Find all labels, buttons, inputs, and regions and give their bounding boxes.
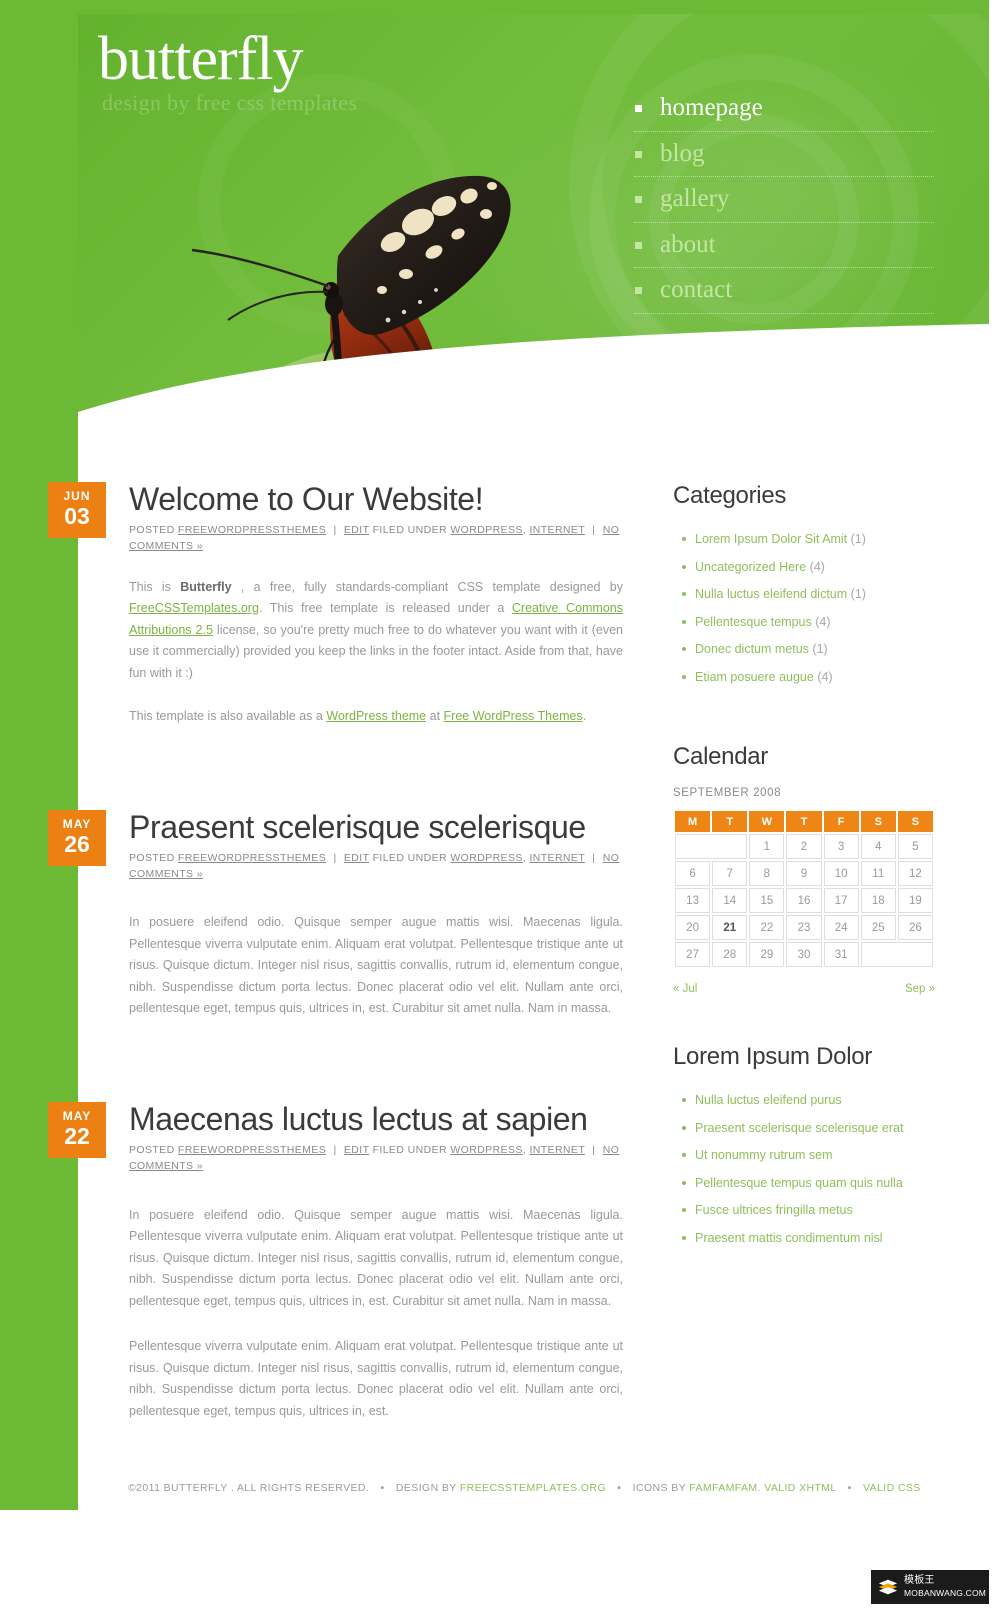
calendar-day-cell[interactable]: 17	[824, 888, 859, 913]
nav-item-gallery[interactable]: gallery	[634, 177, 934, 223]
post-meta-edit-link[interactable]: EDIT	[344, 524, 369, 536]
category-link[interactable]: Donec dictum metus	[695, 642, 809, 656]
calendar-day-cell[interactable]: 19	[898, 888, 933, 913]
post-meta-author-link[interactable]: FREEWORDPRESSTHEMES	[178, 524, 326, 536]
calendar-day-cell[interactable]: 11	[861, 861, 896, 886]
post-emphasis: Butterfly	[180, 580, 231, 594]
calendar-weekday: S	[861, 811, 896, 832]
wordpress-theme-link[interactable]: WordPress theme	[326, 709, 426, 723]
calendar-prev-month-link[interactable]: « Jul	[673, 983, 697, 995]
calendar-weekday: T	[786, 811, 821, 832]
calendar-table: M T W T F S S 1 2	[673, 809, 935, 969]
list-item[interactable]: Ut nonummy rutrum sem	[695, 1142, 973, 1170]
nav-item-homepage[interactable]: homepage	[634, 86, 934, 132]
lorem-link[interactable]: Praesent scelerisque scelerisque erat	[695, 1121, 903, 1135]
category-count: (1)	[851, 587, 866, 601]
post-meta-filed-label: FILED	[373, 1144, 405, 1156]
post-date-day: 26	[48, 831, 106, 856]
calendar-day-cell[interactable]: 22	[749, 915, 784, 940]
calendar-caption: SEPTEMBER 2008	[673, 787, 973, 799]
footer-separator: •	[373, 1482, 393, 1494]
categories-list: Lorem Ipsum Dolor Sit Amit (1) Uncategor…	[673, 526, 973, 691]
calendar-day-cell[interactable]: 7	[712, 861, 747, 886]
post-date-badge: MAY 22	[48, 1102, 106, 1158]
calendar-navigation: « Jul Sep »	[673, 983, 935, 995]
calendar-day-cell[interactable]: 31	[824, 942, 859, 967]
post-meta-posted-label: POSTED	[129, 524, 175, 536]
post-meta-under-label: UNDER	[408, 852, 447, 864]
calendar-day-cell-today[interactable]: 21	[712, 915, 747, 940]
header-curve-divider	[78, 264, 989, 444]
frame-right-bar	[989, 0, 1007, 1510]
post-date-month: JUN	[48, 482, 106, 503]
post-date-badge: JUN 03	[48, 482, 106, 538]
calendar-weekday: F	[824, 811, 859, 832]
calendar-day-cell[interactable]: 10	[824, 861, 859, 886]
calendar-day-cell[interactable]: 13	[675, 888, 710, 913]
post-meta-category-link[interactable]: WORDPRESS	[450, 524, 522, 536]
post-title: Welcome to Our Website!	[129, 444, 623, 517]
footer-copyright: ©2011 BUTTERFLY . ALL RIGHTS RESERVED.	[128, 1482, 369, 1494]
calendar-day-cell[interactable]: 1	[749, 834, 784, 859]
post-meta-under-label: UNDER	[408, 1144, 447, 1156]
calendar-weekday: M	[675, 811, 710, 832]
calendar-day-cell[interactable]: 18	[861, 888, 896, 913]
category-count: (4)	[817, 670, 832, 684]
list-item[interactable]: Praesent scelerisque scelerisque erat	[695, 1115, 973, 1143]
list-item[interactable]: Fusce ultrices fringilla metus	[695, 1197, 973, 1225]
post-date-badge: MAY 26	[48, 810, 106, 866]
calendar-day-cell[interactable]: 4	[861, 834, 896, 859]
category-count: (1)	[812, 642, 827, 656]
calendar-day-cell[interactable]: 16	[786, 888, 821, 913]
calendar-day-cell[interactable]: 20	[675, 915, 710, 940]
category-count: (1)	[851, 532, 866, 546]
post-meta-separator: |	[588, 524, 599, 536]
calendar-widget: Calendar SEPTEMBER 2008 M T W T F S S	[673, 743, 973, 995]
post-meta-category-link[interactable]: WORDPRESS	[450, 852, 522, 864]
calendar-week-row: 20 21 22 23 24 25 26	[675, 915, 933, 940]
calendar-day-cell[interactable]: 28	[712, 942, 747, 967]
post-meta-edit-link[interactable]: EDIT	[344, 852, 369, 864]
post-meta-comma: ,	[523, 852, 526, 864]
post-meta-separator: |	[329, 524, 340, 536]
watermark-line1: 模板王	[904, 1575, 986, 1588]
nav-link-about[interactable]: about	[634, 230, 716, 260]
post-paragraph: Pellentesque viverra vulputate enim. Ali…	[129, 1336, 623, 1422]
post-date-day: 22	[48, 1123, 106, 1148]
lorem-link[interactable]: Ut nonummy rutrum sem	[695, 1148, 833, 1162]
blog-post: MAY 26 Praesent scelerisque scelerisque …	[78, 772, 623, 1020]
post-date-month: MAY	[48, 810, 106, 831]
calendar-day-cell[interactable]: 9	[786, 861, 821, 886]
post-date-day: 03	[48, 503, 106, 528]
blog-post: JUN 03 Welcome to Our Website! POSTED FR…	[78, 444, 623, 728]
post-paragraph: In posuere eleifend odio. Quisque semper…	[129, 1205, 623, 1313]
site-footer: ©2011 BUTTERFLY . ALL RIGHTS RESERVED. •…	[128, 1482, 928, 1494]
list-item[interactable]: Donec dictum metus (1)	[695, 636, 973, 664]
calendar-day-cell[interactable]: 29	[749, 942, 784, 967]
footer-separator: •	[840, 1482, 860, 1494]
list-item[interactable]: Nulla luctus eleifend purus	[695, 1087, 973, 1115]
calendar-week-row: 6 7 8 9 10 11 12	[675, 861, 933, 886]
calendar-week-row: 1 2 3 4 5	[675, 834, 933, 859]
calendar-day-cell[interactable]: 25	[861, 915, 896, 940]
lorem-list: Nulla luctus eleifend purus Praesent sce…	[673, 1087, 973, 1252]
list-item[interactable]: Uncategorized Here (4)	[695, 554, 973, 582]
list-item[interactable]: Praesent mattis condimentum nisl	[695, 1225, 973, 1253]
list-item[interactable]: Etiam posuere augue (4)	[695, 664, 973, 692]
lorem-link[interactable]: Praesent mattis condimentum nisl	[695, 1231, 883, 1245]
post-meta-author-link[interactable]: FREEWORDPRESSTHEMES	[178, 1144, 326, 1156]
post-title: Maecenas luctus lectus at sapien	[129, 1064, 623, 1137]
calendar-week-row: 13 14 15 16 17 18 19	[675, 888, 933, 913]
nav-link-blog[interactable]: blog	[634, 139, 704, 169]
calendar-day-cell[interactable]: 15	[749, 888, 784, 913]
frame-left-bar	[0, 0, 78, 1510]
calendar-next-month-link[interactable]: Sep »	[905, 983, 935, 995]
calendar-day-cell[interactable]: 8	[749, 861, 784, 886]
post-meta: POSTED FREEWORDPRESSTHEMES | EDIT FILED …	[129, 1137, 623, 1175]
category-link[interactable]: Pellentesque tempus	[695, 615, 812, 629]
calendar-day-cell[interactable]: 6	[675, 861, 710, 886]
calendar-day-cell[interactable]: 27	[675, 942, 710, 967]
calendar-day-cell[interactable]: 2	[786, 834, 821, 859]
category-link[interactable]: Etiam posuere augue	[695, 670, 814, 684]
calendar-day-cell[interactable]: 26	[898, 915, 933, 940]
footer-design-label: DESIGN BY	[396, 1482, 457, 1494]
nav-link-homepage[interactable]: homepage	[634, 93, 763, 123]
calendar-day-cell[interactable]: 12	[898, 861, 933, 886]
nav-link-gallery[interactable]: gallery	[634, 184, 729, 214]
post-paragraph: This is Butterfly , a free, fully standa…	[129, 577, 623, 685]
post-meta-under-label: UNDER	[408, 524, 447, 536]
category-link[interactable]: Nulla luctus eleifend dictum	[695, 587, 847, 601]
footer-valid-css-link[interactable]: VALID CSS	[863, 1482, 921, 1494]
site-header: butterfly design by free css templates	[78, 14, 989, 444]
post-meta-filed-label: FILED	[373, 852, 405, 864]
post-meta-comma: ,	[523, 524, 526, 536]
post-meta-category-link[interactable]: INTERNET	[529, 852, 585, 864]
calendar-empty-cell	[861, 942, 933, 967]
nav-item-about[interactable]: about	[634, 223, 934, 269]
category-link[interactable]: Uncategorized Here	[695, 560, 806, 574]
calendar-day-cell[interactable]: 14	[712, 888, 747, 913]
freecsstemplates-link[interactable]: FreeCSSTemplates.org	[129, 601, 259, 615]
site-tagline: design by free css templates	[102, 90, 357, 116]
post-meta-category-link[interactable]: INTERNET	[529, 1144, 585, 1156]
calendar-day-cell[interactable]: 3	[824, 834, 859, 859]
free-wordpress-themes-link[interactable]: Free WordPress Themes	[444, 709, 583, 723]
list-item[interactable]: Nulla luctus eleifend dictum (1)	[695, 581, 973, 609]
calendar-day-cell[interactable]: 24	[824, 915, 859, 940]
lorem-link[interactable]: Pellentesque tempus quam quis nulla	[695, 1176, 903, 1190]
category-count: (4)	[810, 560, 825, 574]
sidebar: Categories Lorem Ipsum Dolor Sit Amit (1…	[673, 444, 973, 1286]
post-meta: POSTED FREEWORDPRESSTHEMES | EDIT FILED …	[129, 845, 623, 883]
list-item[interactable]: Pellentesque tempus (4)	[695, 609, 973, 637]
post-meta-separator: |	[329, 852, 340, 864]
post-meta-separator: |	[588, 852, 599, 864]
nav-item-blog[interactable]: blog	[634, 132, 934, 178]
footer-valid-xhtml-link[interactable]: VALID XHTML	[764, 1482, 836, 1494]
calendar-header-row: M T W T F S S	[675, 811, 933, 832]
watermark-line2: MOBANWANG.COM	[904, 1588, 986, 1598]
watermark-text: 模板王 MOBANWANG.COM	[904, 1575, 986, 1598]
watermark-badge: 模板王 MOBANWANG.COM	[871, 1570, 989, 1604]
post-meta: POSTED FREEWORDPRESSTHEMES | EDIT FILED …	[129, 517, 623, 555]
post-meta-category-link[interactable]: WORDPRESS	[450, 1144, 522, 1156]
calendar-weekday: W	[749, 811, 784, 832]
post-paragraph: This template is also available as a Wor…	[129, 706, 623, 728]
category-count: (4)	[815, 615, 830, 629]
post-meta-separator: |	[329, 1144, 340, 1156]
post-meta-posted-label: POSTED	[129, 852, 175, 864]
categories-widget-title: Categories	[673, 482, 973, 510]
calendar-day-cell[interactable]: 23	[786, 915, 821, 940]
category-link[interactable]: Lorem Ipsum Dolor Sit Amit	[695, 532, 847, 546]
calendar-day-cell[interactable]: 5	[898, 834, 933, 859]
post-meta-category-link[interactable]: INTERNET	[529, 524, 585, 536]
categories-widget: Categories Lorem Ipsum Dolor Sit Amit (1…	[673, 482, 973, 691]
post-meta-comma: ,	[523, 1144, 526, 1156]
post-meta-filed-label: FILED	[373, 524, 405, 536]
lorem-widget: Lorem Ipsum Dolor Nulla luctus eleifend …	[673, 1043, 973, 1252]
list-item[interactable]: Lorem Ipsum Dolor Sit Amit (1)	[695, 526, 973, 554]
post-meta-separator: |	[588, 1144, 599, 1156]
lorem-link[interactable]: Nulla luctus eleifend purus	[695, 1093, 842, 1107]
books-icon	[877, 1576, 899, 1598]
post-meta-edit-link[interactable]: EDIT	[344, 1144, 369, 1156]
footer-icons-link[interactable]: FAMFAMFAM.	[689, 1482, 761, 1494]
footer-design-link[interactable]: FREECSSTEMPLATES.ORG	[460, 1482, 606, 1494]
calendar-widget-title: Calendar	[673, 743, 973, 771]
lorem-widget-title: Lorem Ipsum Dolor	[673, 1043, 973, 1071]
footer-separator: •	[609, 1482, 629, 1494]
site-title: butterfly	[98, 28, 303, 90]
frame-top-bar	[0, 0, 1007, 14]
post-title: Praesent scelerisque scelerisque	[129, 772, 623, 845]
list-item[interactable]: Pellentesque tempus quam quis nulla	[695, 1170, 973, 1198]
calendar-weekday: S	[898, 811, 933, 832]
page-root: butterfly design by free css templates	[0, 0, 1007, 1612]
calendar-day-cell[interactable]: 30	[786, 942, 821, 967]
footer-icons-label: ICONS BY	[633, 1482, 686, 1494]
lorem-link[interactable]: Fusce ultrices fringilla metus	[695, 1203, 853, 1217]
blog-post: MAY 22 Maecenas luctus lectus at sapien …	[78, 1064, 623, 1422]
calendar-week-row: 27 28 29 30 31	[675, 942, 933, 967]
post-paragraph: In posuere eleifend odio. Quisque semper…	[129, 912, 623, 1020]
calendar-weekday: T	[712, 811, 747, 832]
post-meta-posted-label: POSTED	[129, 1144, 175, 1156]
post-meta-author-link[interactable]: FREEWORDPRESSTHEMES	[178, 852, 326, 864]
post-date-month: MAY	[48, 1102, 106, 1123]
calendar-empty-cell	[675, 834, 747, 859]
main-column: JUN 03 Welcome to Our Website! POSTED FR…	[78, 444, 623, 1432]
